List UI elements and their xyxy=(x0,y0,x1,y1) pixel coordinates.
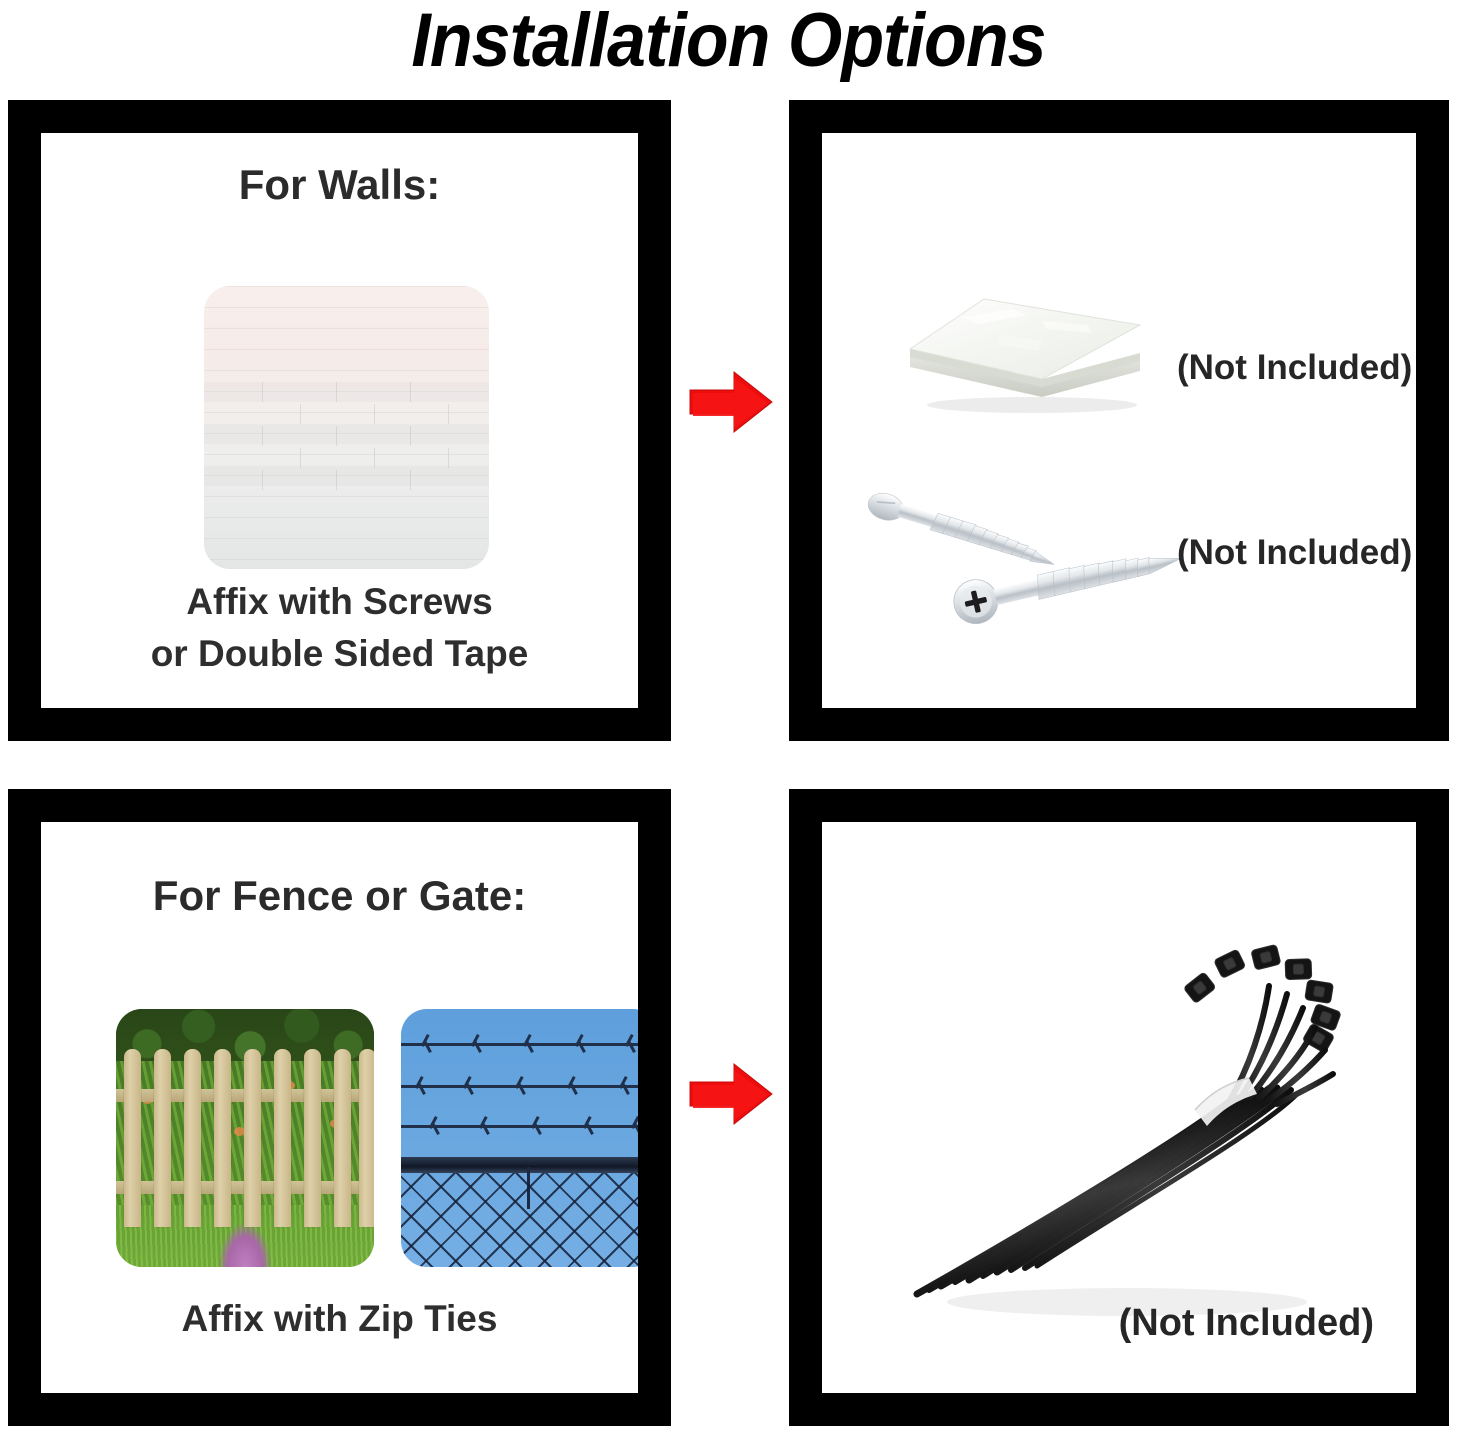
heading-for-fence-or-gate: For Fence or Gate: xyxy=(41,872,638,920)
page-title: Installation Options xyxy=(58,0,1398,84)
red-right-arrow-icon xyxy=(684,366,776,438)
caption-line-1: Affix with Screws xyxy=(41,576,638,628)
wooden-picket-fence-thumbnail xyxy=(116,1009,374,1267)
black-zip-ties-bundle-image xyxy=(877,942,1367,1342)
caption-for-walls: Affix with Screws or Double Sided Tape xyxy=(41,576,638,680)
panel-fence-hardware: (Not Included) xyxy=(789,789,1449,1426)
screws-not-included-label: (Not Included) xyxy=(1177,533,1412,573)
chain-link-barbed-wire-thumbnail xyxy=(401,1009,638,1267)
white-brick-wall-thumbnail xyxy=(204,286,489,569)
tape-not-included-label: (Not Included) xyxy=(1177,348,1412,388)
caption-for-fence: Affix with Zip Ties xyxy=(41,1293,638,1345)
red-right-arrow-icon xyxy=(684,1058,776,1130)
panel-for-fence-or-gate: For Fence or Gate: xyxy=(8,789,671,1426)
panel-for-walls: For Walls: Affix with Screws or Double S… xyxy=(8,100,671,741)
zip-ties-not-included-label: (Not Included) xyxy=(1119,1302,1374,1345)
caption-line-1: Affix with Zip Ties xyxy=(41,1293,638,1345)
double-sided-tape-stack-image xyxy=(892,263,1152,413)
wood-screws-image xyxy=(850,473,1210,663)
panel-wall-hardware: (Not Included) xyxy=(789,100,1449,741)
heading-for-walls: For Walls: xyxy=(41,161,638,209)
caption-line-2: or Double Sided Tape xyxy=(41,628,638,680)
